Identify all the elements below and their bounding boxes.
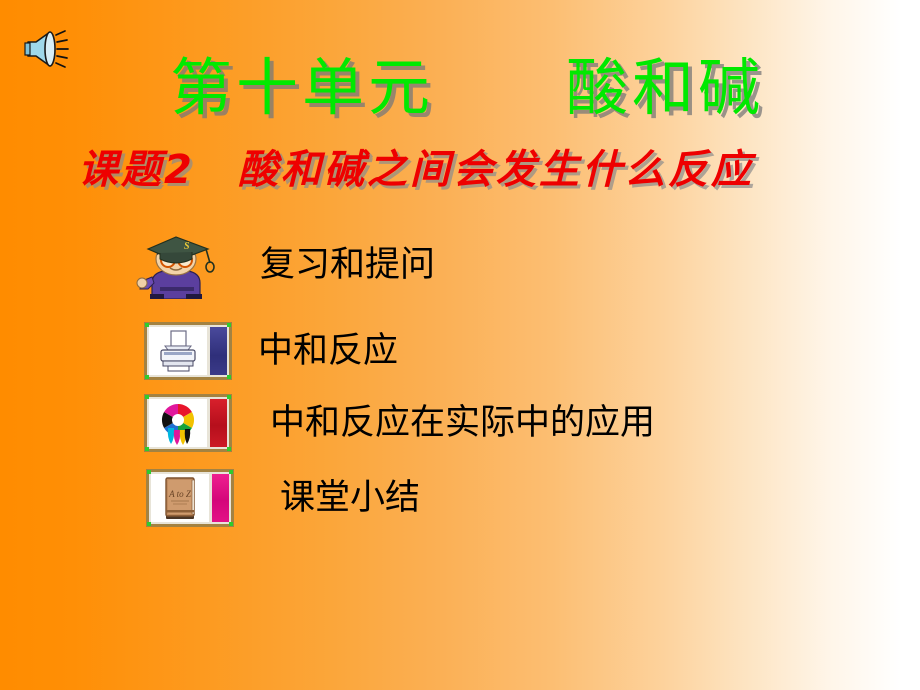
color-palette-icon[interactable] — [144, 394, 232, 452]
agenda-item-review[interactable]: S 复习和提问 — [0, 229, 435, 301]
agenda-icon-slot: A to Z — [130, 464, 250, 532]
book-cover-text: A to Z — [168, 489, 192, 499]
selection-handle — [229, 522, 233, 526]
selection-handle — [145, 447, 149, 451]
printer-icon[interactable] — [144, 322, 232, 380]
agenda-icon-slot — [128, 389, 248, 457]
selection-handle — [229, 470, 233, 474]
palette-icon-color-strip — [210, 399, 227, 447]
agenda-icon-slot — [128, 317, 248, 385]
graduate-student-icon[interactable]: S — [130, 231, 226, 299]
agenda-item-summary[interactable]: A to Z 课堂小结 — [0, 462, 420, 534]
selection-handle — [227, 395, 231, 399]
agenda-item-application[interactable]: 中和反应在实际中的应用 — [0, 387, 655, 459]
agenda-icon-slot: S — [118, 231, 238, 299]
palette-image — [149, 399, 207, 447]
speaker-icon[interactable] — [22, 28, 72, 70]
printer-icon-color-strip — [210, 327, 227, 375]
book-icon[interactable]: A to Z — [146, 469, 234, 527]
selection-handle — [145, 375, 149, 379]
agenda-item-neutralization[interactable]: 中和反应 — [0, 315, 398, 387]
selection-handle — [147, 522, 151, 526]
book-image: A to Z — [151, 474, 209, 522]
graduate-cap-letter: S — [184, 241, 190, 252]
selection-handle — [227, 375, 231, 379]
page-subtitle: 课题2 酸和碱之间会发生什么反应 — [78, 142, 838, 198]
agenda-item-label: 复习和提问 — [260, 245, 435, 285]
printer-image — [149, 327, 207, 375]
page-title: 第十单元 酸和碱 — [170, 48, 810, 128]
presentation-slide: 第十单元 酸和碱 课题2 酸和碱之间会发生什么反应 — [0, 0, 920, 690]
agenda-item-label: 课堂小结 — [280, 478, 420, 518]
selection-handle — [227, 447, 231, 451]
agenda-item-label: 中和反应在实际中的应用 — [270, 403, 655, 443]
agenda-item-label: 中和反应 — [258, 331, 398, 371]
book-icon-color-strip — [212, 474, 229, 522]
selection-handle — [227, 323, 231, 327]
